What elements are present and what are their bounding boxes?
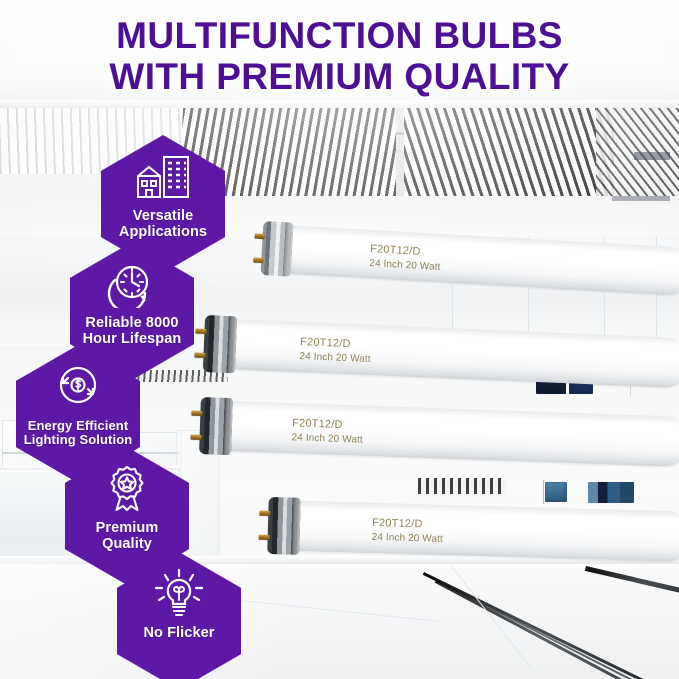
- tube-end-cap: [260, 221, 293, 277]
- tube-spec: 24 Inch 20 Watt: [291, 431, 363, 447]
- badge-label-line-2: Lighting Solution: [24, 432, 133, 447]
- badge-label: No Flicker: [137, 626, 220, 642]
- tube-spec: 24 Inch 20 Watt: [371, 531, 443, 547]
- badge-label: Premium Quality: [90, 521, 165, 553]
- badge-label-line-1: No Flicker: [143, 625, 214, 641]
- bi-pin: [259, 511, 270, 516]
- bi-pin: [259, 535, 270, 540]
- badge-label: Versatile Applications: [113, 209, 213, 241]
- tube-print-label: F20T12/D 24 Inch 20 Watt: [299, 335, 371, 367]
- tube-end-cap: [199, 397, 233, 455]
- tube-print-label: F20T12/D 24 Inch 20 Watt: [291, 416, 363, 447]
- page-title: MULTIFUNCTION BULBS WITH PREMIUM QUALITY: [0, 16, 679, 97]
- badge-label: Reliable 8000 Hour Lifespan: [77, 316, 188, 348]
- tube-end-cap: [267, 497, 301, 555]
- badge-label-line-1: Energy Efficient: [28, 418, 129, 433]
- bi-pin: [190, 435, 201, 440]
- bi-pin: [195, 329, 206, 334]
- badge-label-line-2: Applications: [119, 224, 207, 240]
- light-bulb-icon: [152, 568, 206, 620]
- badge-label-line-1: Versatile: [133, 208, 194, 224]
- badge-label-line-2: Quality: [102, 536, 152, 552]
- headline-line-1: MULTIFUNCTION BULBS: [116, 15, 563, 56]
- badge-label: Energy Efficient Lighting Solution: [18, 419, 139, 448]
- badge-label-line-1: Reliable 8000: [85, 315, 178, 331]
- bi-pin: [191, 411, 202, 416]
- buildings-icon: [135, 151, 191, 203]
- badge-label-line-1: Premium: [96, 520, 159, 536]
- bi-pin: [194, 353, 205, 358]
- tube-spec: 24 Inch 20 Watt: [299, 350, 371, 367]
- bi-pin: [255, 234, 265, 240]
- headline-line-2: WITH PREMIUM QUALITY: [0, 57, 679, 98]
- tube-end-cap: [203, 315, 237, 373]
- award-ribbon-icon: [102, 463, 152, 515]
- bi-pin: [253, 258, 263, 264]
- tube-print-label: F20T12/D 24 Inch 20 Watt: [371, 516, 443, 547]
- money-saving-icon: [51, 361, 105, 413]
- clock-refresh-icon: [106, 258, 158, 310]
- badge-label-line-2: Hour Lifespan: [83, 331, 182, 347]
- product-marketing-image: F20T12/D 24 Inch 20 Watt F20T12/D 24 Inc…: [0, 0, 679, 679]
- tube-print-label: F20T12/D 24 Inch 20 Watt: [369, 242, 442, 275]
